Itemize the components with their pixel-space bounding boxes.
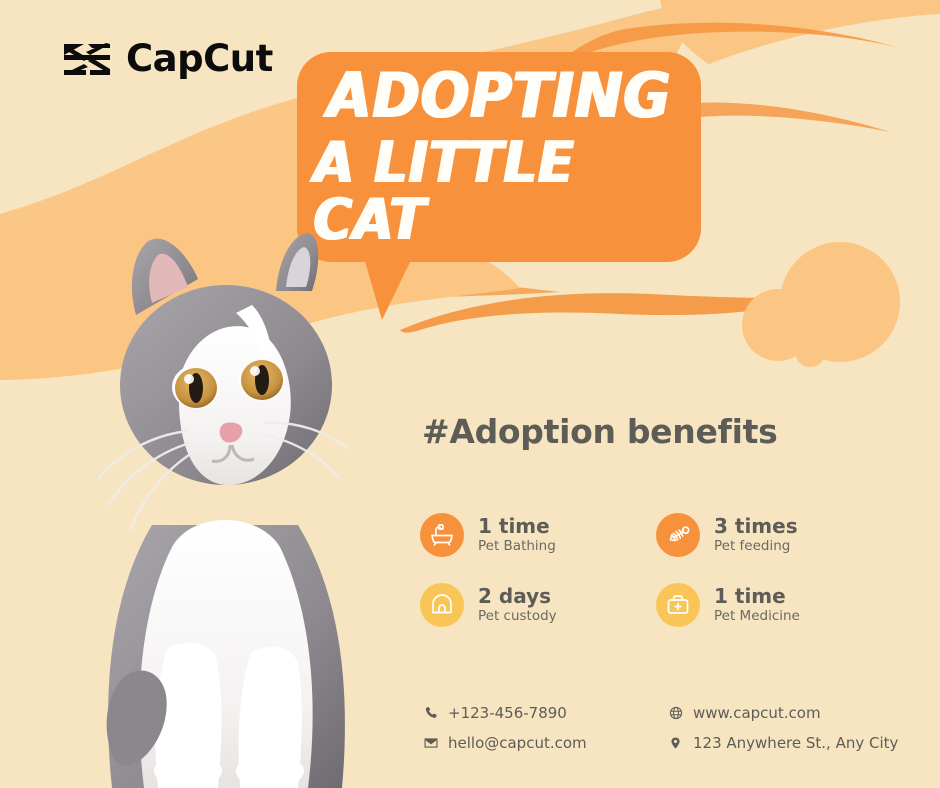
contact-website-text: www.capcut.com — [693, 704, 821, 722]
benefit-item-pet-feeding[interactable]: 3 times Pet feeding — [656, 500, 890, 570]
contact-website[interactable]: www.capcut.com — [667, 698, 902, 728]
cat-right-paw — [236, 754, 304, 788]
poster-canvas: CapCut Adopting A Little Cat — [0, 0, 940, 788]
cat-left-paw — [154, 754, 222, 788]
cat-left-eye-glint — [184, 374, 194, 384]
contact-address[interactable]: 123 Anywhere St., Any City — [667, 728, 902, 758]
globe-icon — [667, 706, 684, 720]
kitten-photo — [40, 195, 410, 788]
benefits-title: #Adoption benefits — [422, 412, 777, 451]
brand-name: CapCut — [126, 40, 273, 77]
contact-block: +123-456-7890 www.capcut.com hello@capcu… — [422, 698, 902, 758]
medical-kit-icon — [656, 583, 700, 627]
benefit-label: Pet custody — [478, 609, 557, 625]
phone-icon — [422, 706, 439, 720]
contact-email[interactable]: hello@capcut.com — [422, 728, 667, 758]
benefit-item-pet-medicine[interactable]: 1 time Pet Medicine — [656, 570, 890, 640]
pet-house-icon — [420, 583, 464, 627]
benefit-item-pet-custody[interactable]: 2 days Pet custody — [420, 570, 656, 640]
brand-logo[interactable]: CapCut — [62, 40, 273, 77]
capcut-logo-mark-icon — [62, 42, 112, 76]
decor-blob-small — [796, 343, 824, 367]
contact-phone[interactable]: +123-456-7890 — [422, 698, 667, 728]
benefits-grid: 1 time Pet Bathing — [420, 500, 890, 640]
headline-line-1: Adopting — [327, 65, 671, 127]
bathtub-icon — [420, 513, 464, 557]
contact-email-text: hello@capcut.com — [448, 734, 587, 752]
benefit-value: 2 days — [478, 585, 557, 608]
fish-bone-icon — [656, 513, 700, 557]
benefit-label: Pet Bathing — [478, 539, 556, 555]
benefit-value: 1 time — [478, 515, 556, 538]
benefit-item-pet-bathing[interactable]: 1 time Pet Bathing — [420, 500, 656, 570]
location-pin-icon — [667, 736, 684, 750]
benefit-label: Pet Medicine — [714, 609, 800, 625]
benefit-value: 1 time — [714, 585, 800, 608]
cat-right-eye-glint — [250, 366, 260, 376]
benefit-label: Pet feeding — [714, 539, 798, 555]
kitten-illustration — [40, 195, 410, 788]
envelope-icon — [422, 736, 439, 750]
contact-address-text: 123 Anywhere St., Any City — [693, 734, 898, 752]
benefit-value: 3 times — [714, 515, 798, 538]
contact-phone-text: +123-456-7890 — [448, 704, 567, 722]
